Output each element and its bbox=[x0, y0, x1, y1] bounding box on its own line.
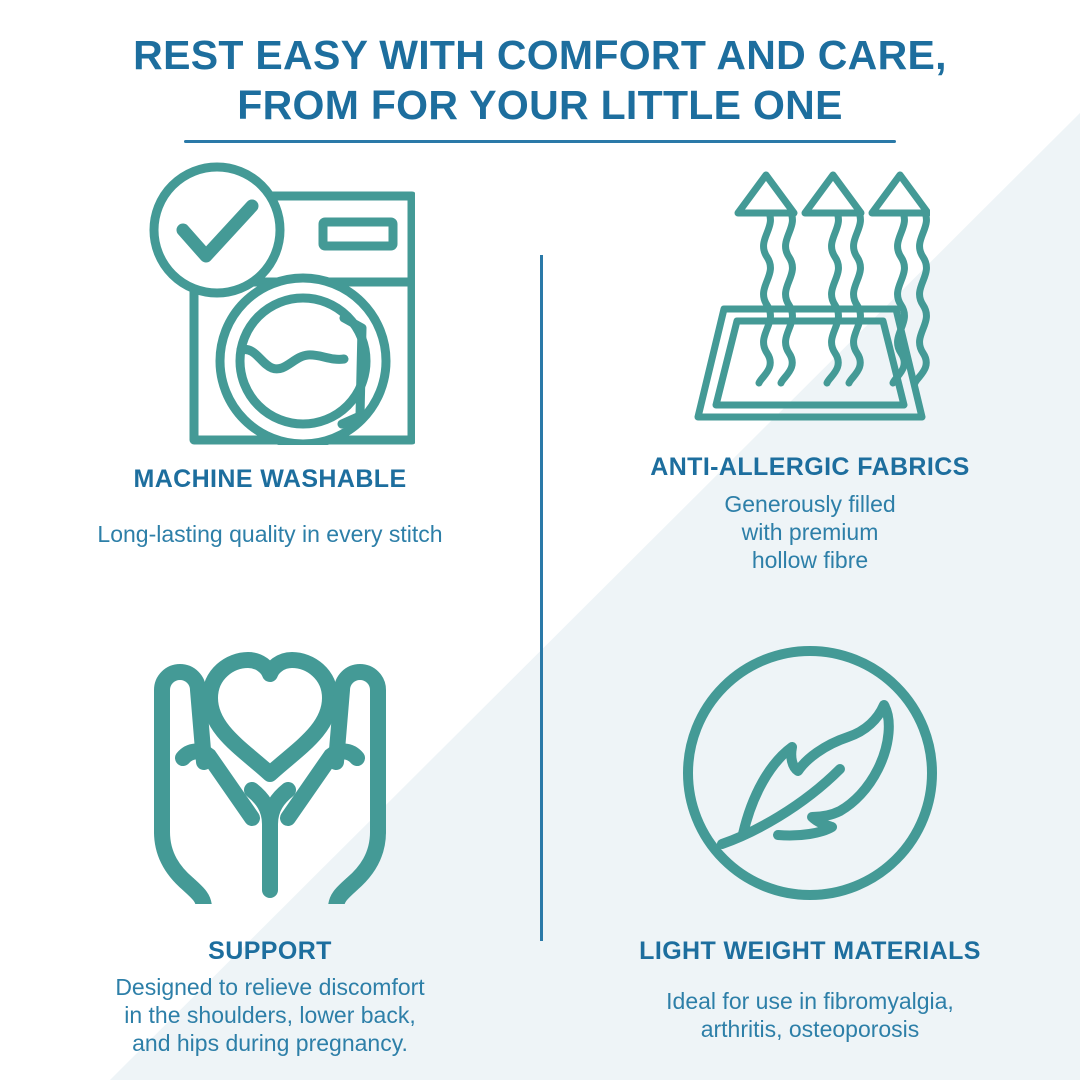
hands-holding-heart-icon bbox=[140, 630, 400, 915]
vertical-divider bbox=[540, 255, 543, 941]
infographic-page: REST EASY WITH COMFORT AND CARE, FROM FO… bbox=[0, 0, 1080, 1080]
feature-anti-allergic-fabrics: ANTI-ALLERGIC FABRICS Generously filled … bbox=[540, 160, 1080, 630]
feature-description: Designed to relieve discomfort in the sh… bbox=[115, 973, 424, 1057]
feature-machine-washable: MACHINE WASHABLE Long-lasting quality in… bbox=[0, 160, 540, 630]
headline-line-2: FROM FOR YOUR LITTLE ONE bbox=[0, 80, 1080, 130]
feature-description: Ideal for use in fibromyalgia, arthritis… bbox=[666, 987, 954, 1043]
headline-line-1: REST EASY WITH COMFORT AND CARE, bbox=[0, 30, 1080, 80]
headline-block: REST EASY WITH COMFORT AND CARE, FROM FO… bbox=[0, 30, 1080, 143]
feather-in-circle-icon bbox=[682, 630, 938, 915]
headline-underline bbox=[184, 140, 896, 143]
feature-description: Long-lasting quality in every stitch bbox=[97, 520, 442, 548]
feature-title: MACHINE WASHABLE bbox=[133, 465, 406, 493]
feature-title: SUPPORT bbox=[208, 937, 332, 965]
washing-machine-check-icon bbox=[125, 160, 415, 445]
feature-description: Generously filled with premium hollow fi… bbox=[724, 490, 895, 574]
feature-title: LIGHT WEIGHT MATERIALS bbox=[639, 937, 981, 965]
feature-light-weight-materials: LIGHT WEIGHT MATERIALS Ideal for use in … bbox=[540, 630, 1080, 1080]
breathable-fabric-arrows-icon bbox=[690, 160, 930, 435]
feature-support: SUPPORT Designed to relieve discomfort i… bbox=[0, 630, 540, 1080]
feature-title: ANTI-ALLERGIC FABRICS bbox=[650, 453, 970, 481]
